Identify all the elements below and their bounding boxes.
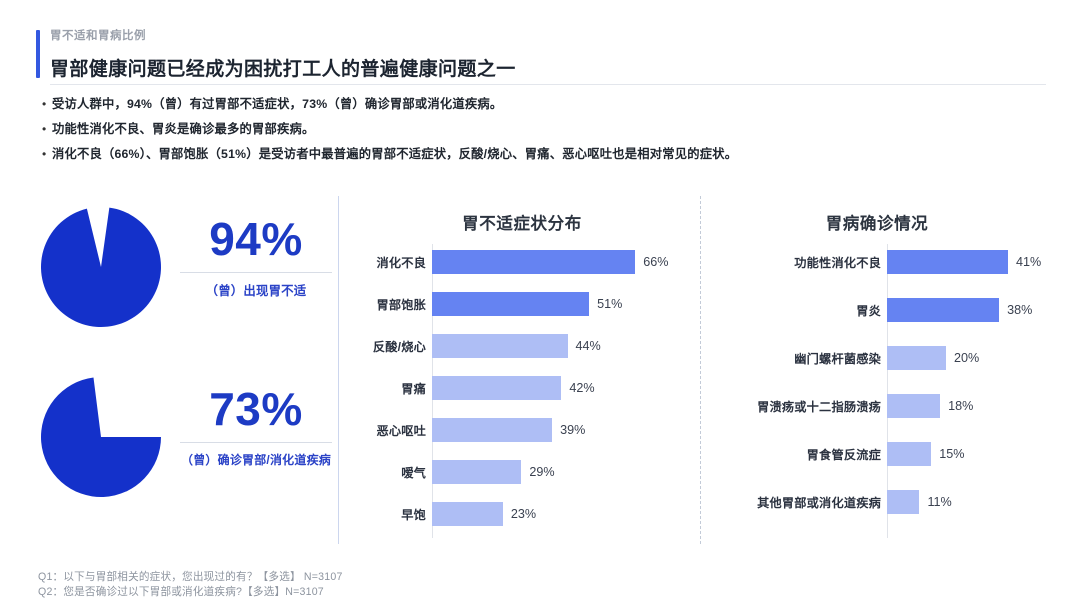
bar-fill: [432, 502, 503, 526]
bar-row: 早饱23%: [352, 502, 692, 526]
bar-row: 恶心呕吐39%: [352, 418, 692, 442]
eyebrow-label: 胃不适和胃病比例: [50, 26, 146, 46]
bullet-marker-icon: •: [42, 96, 52, 113]
bar-track: [432, 376, 561, 400]
bar-row: 消化不良66%: [352, 250, 692, 274]
bar-fill: [432, 460, 521, 484]
bar-value-label: 66%: [643, 255, 668, 269]
footnote-q1: Q1：以下与胃部相关的症状，您出现过的有？【多选】 N=3107: [38, 570, 343, 585]
pie-percent-value: 94%: [176, 212, 336, 266]
pie-panel: 94% （曾）出现胃不适 73% （曾）确诊胃部/消化道疾病: [36, 206, 336, 536]
chart-title: 胃病确诊情况: [712, 210, 1042, 234]
pie-rule: [180, 272, 332, 273]
bar-row: 幽门螺杆菌感染20%: [712, 346, 1072, 370]
bullet-list: • 受访人群中，94%（曾）有过胃部不适症状，73%（曾）确诊胃部或消化道疾病。…: [42, 96, 1042, 171]
bar-track: [432, 292, 589, 316]
pie-block-diagnosed-disease: 73% （曾）确诊胃部/消化道疾病: [36, 376, 336, 528]
bullet-text: 受访人群中，94%（曾）有过胃部不适症状，73%（曾）确诊胃部或消化道疾病。: [52, 96, 502, 113]
bar-track: [887, 346, 946, 370]
chart-diagnosis-distribution: 胃病确诊情况 功能性消化不良41%胃炎38%幽门螺杆菌感染20%胃溃疡或十二指肠…: [712, 210, 1072, 540]
bar-track: [887, 490, 919, 514]
bar-category-label: 嗳气: [352, 463, 426, 481]
bar-category-label: 其他胃部或消化道疾病: [712, 493, 881, 511]
bar-track: [432, 460, 521, 484]
bar-value-label: 41%: [1016, 255, 1041, 269]
list-item: • 受访人群中，94%（曾）有过胃部不适症状，73%（曾）确诊胃部或消化道疾病。: [42, 96, 1042, 113]
eyebrow-row: 胃不适和胃病比例: [36, 26, 1046, 46]
bar-category-label: 早饱: [352, 505, 426, 523]
bar-fill: [432, 250, 635, 274]
bar-fill: [432, 334, 568, 358]
pie-rule: [180, 442, 332, 443]
bar-value-label: 29%: [529, 465, 554, 479]
bar-track: [887, 298, 999, 322]
bullet-marker-icon: •: [42, 146, 52, 163]
slide-header: 胃不适和胃病比例 胃部健康问题已经成为困扰打工人的普遍健康问题之一: [36, 26, 1046, 81]
bar-row: 胃溃疡或十二指肠溃疡18%: [712, 394, 1072, 418]
bar-value-label: 18%: [948, 399, 973, 413]
pie-info-94: 94% （曾）出现胃不适: [176, 212, 336, 299]
bar-fill: [887, 442, 931, 466]
bullet-marker-icon: •: [42, 121, 52, 138]
bar-value-label: 23%: [511, 507, 536, 521]
pie-percent-value: 73%: [176, 382, 336, 436]
header-divider: [50, 84, 1046, 85]
bar-category-label: 幽门螺杆菌感染: [712, 349, 881, 367]
bar-row: 其他胃部或消化道疾病11%: [712, 490, 1072, 514]
bar-track: [432, 418, 552, 442]
bar-row: 胃炎38%: [712, 298, 1072, 322]
bar-value-label: 39%: [560, 423, 585, 437]
bar-fill: [887, 346, 946, 370]
pie-caption: （曾）确诊胃部/消化道疾病: [176, 451, 336, 468]
bar-category-label: 胃炎: [712, 301, 881, 319]
pie-info-73: 73% （曾）确诊胃部/消化道疾病: [176, 382, 336, 468]
pie-caption: （曾）出现胃不适: [176, 281, 336, 299]
bar-track: [887, 250, 1008, 274]
list-item: • 功能性消化不良、胃炎是确诊最多的胃部疾病。: [42, 121, 1042, 138]
bar-row: 反酸/烧心44%: [352, 334, 692, 358]
bar-fill: [887, 490, 919, 514]
chart-title: 胃不适症状分布: [352, 210, 692, 234]
bar-category-label: 胃溃疡或十二指肠溃疡: [712, 397, 881, 415]
bar-row: 胃痛42%: [352, 376, 692, 400]
header-accent-bar: [36, 30, 40, 78]
bar-category-label: 恶心呕吐: [352, 421, 426, 439]
list-item: • 消化不良（66%）、胃部饱胀（51%）是受访者中最普遍的胃部不适症状，反酸/…: [42, 146, 1042, 163]
pie-chart-94: [40, 206, 162, 328]
bar-category-label: 功能性消化不良: [712, 253, 881, 271]
pie-chart-73: [40, 376, 162, 498]
bar-track: [432, 250, 635, 274]
chart-symptom-distribution: 胃不适症状分布 消化不良66%胃部饱胀51%反酸/烧心44%胃痛42%恶心呕吐3…: [352, 210, 692, 540]
bar-row: 嗳气29%: [352, 460, 692, 484]
bar-category-label: 胃部饱胀: [352, 295, 426, 313]
bar-category-label: 胃食管反流症: [712, 445, 881, 463]
bar-category-label: 反酸/烧心: [352, 337, 426, 355]
bar-fill: [887, 250, 1008, 274]
slide-root: 胃不适和胃病比例 胃部健康问题已经成为困扰打工人的普遍健康问题之一 • 受访人群…: [0, 0, 1080, 608]
bar-row: 功能性消化不良41%: [712, 250, 1072, 274]
bullet-text: 功能性消化不良、胃炎是确诊最多的胃部疾病。: [52, 121, 314, 138]
bar-fill: [432, 292, 589, 316]
panel-divider-right: [700, 196, 701, 544]
bar-track: [887, 394, 940, 418]
bar-row: 胃食管反流症15%: [712, 442, 1072, 466]
pie-chart-94-svg: [40, 206, 162, 328]
bar-value-label: 38%: [1007, 303, 1032, 317]
bar-row: 胃部饱胀51%: [352, 292, 692, 316]
bar-category-label: 胃痛: [352, 379, 426, 397]
bar-fill: [432, 376, 561, 400]
pie-block-stomach-discomfort: 94% （曾）出现胃不适: [36, 206, 336, 358]
bar-track: [887, 442, 931, 466]
bar-value-label: 20%: [954, 351, 979, 365]
bar-value-label: 15%: [939, 447, 964, 461]
bar-track: [432, 502, 503, 526]
bar-category-label: 消化不良: [352, 253, 426, 271]
panel-divider-left: [338, 196, 339, 544]
footnote-q2: Q2：您是否确诊过以下胃部或消化道疾病?【多选】N=3107: [38, 585, 343, 600]
footnote-block: Q1：以下与胃部相关的症状，您出现过的有？【多选】 N=3107 Q2：您是否确…: [38, 570, 343, 600]
bar-value-label: 42%: [569, 381, 594, 395]
bar-value-label: 51%: [597, 297, 622, 311]
bar-fill: [887, 394, 940, 418]
bar-value-label: 11%: [927, 495, 951, 509]
pie-chart-73-svg: [40, 376, 162, 498]
bar-fill: [887, 298, 999, 322]
bar-fill: [432, 418, 552, 442]
page-title: 胃部健康问题已经成为困扰打工人的普遍健康问题之一: [50, 54, 1046, 81]
bullet-text: 消化不良（66%）、胃部饱胀（51%）是受访者中最普遍的胃部不适症状，反酸/烧心…: [52, 146, 737, 163]
bar-track: [432, 334, 568, 358]
bar-value-label: 44%: [576, 339, 601, 353]
